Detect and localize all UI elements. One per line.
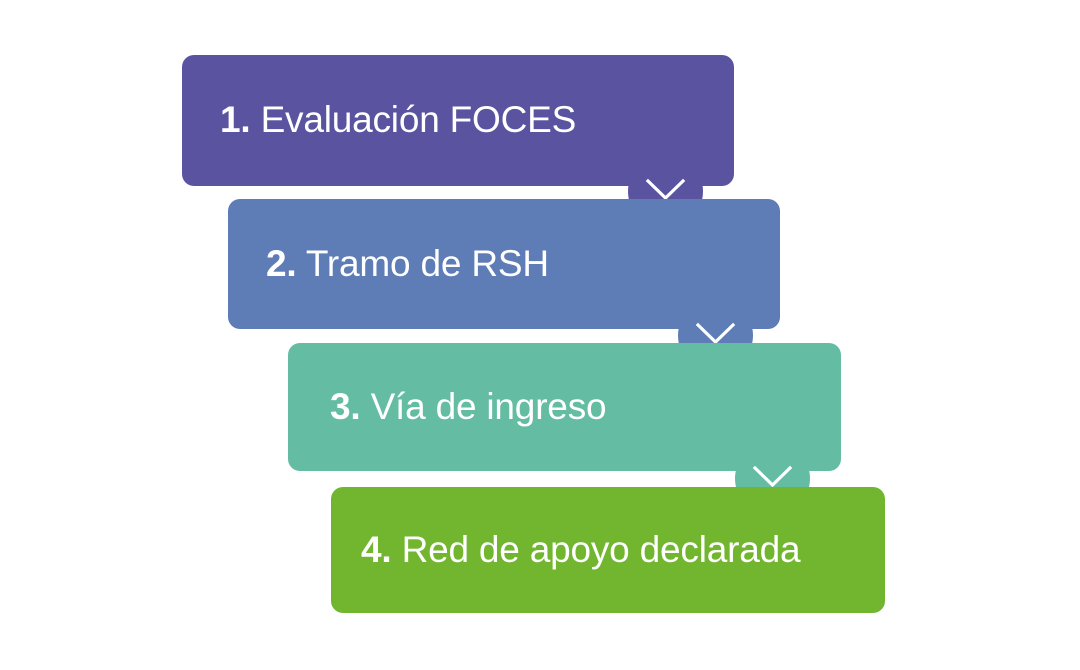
process-step-2-number: 2. — [266, 243, 296, 284]
process-step-3-text: Vía de ingreso — [371, 386, 607, 427]
process-step-1-label: 1. Evaluación FOCES — [220, 100, 576, 141]
process-step-1-text: Evaluación FOCES — [261, 99, 577, 140]
process-step-2-text: Tramo de RSH — [306, 243, 549, 284]
process-step-4-text: Red de apoyo declarada — [402, 529, 801, 570]
process-step-4-label: 4. Red de apoyo declarada — [361, 530, 800, 571]
process-step-4-number: 4. — [361, 529, 391, 570]
process-step-3-number: 3. — [330, 386, 360, 427]
process-step-3-label: 3. Vía de ingreso — [330, 387, 606, 428]
process-step-2-label: 2. Tramo de RSH — [266, 244, 549, 285]
process-step-1-number: 1. — [220, 99, 250, 140]
diagram-canvas: 1. Evaluación FOCES 2. Tramo de RSH 3. V… — [0, 0, 1080, 670]
process-step-4: 4. Red de apoyo declarada — [331, 487, 885, 613]
